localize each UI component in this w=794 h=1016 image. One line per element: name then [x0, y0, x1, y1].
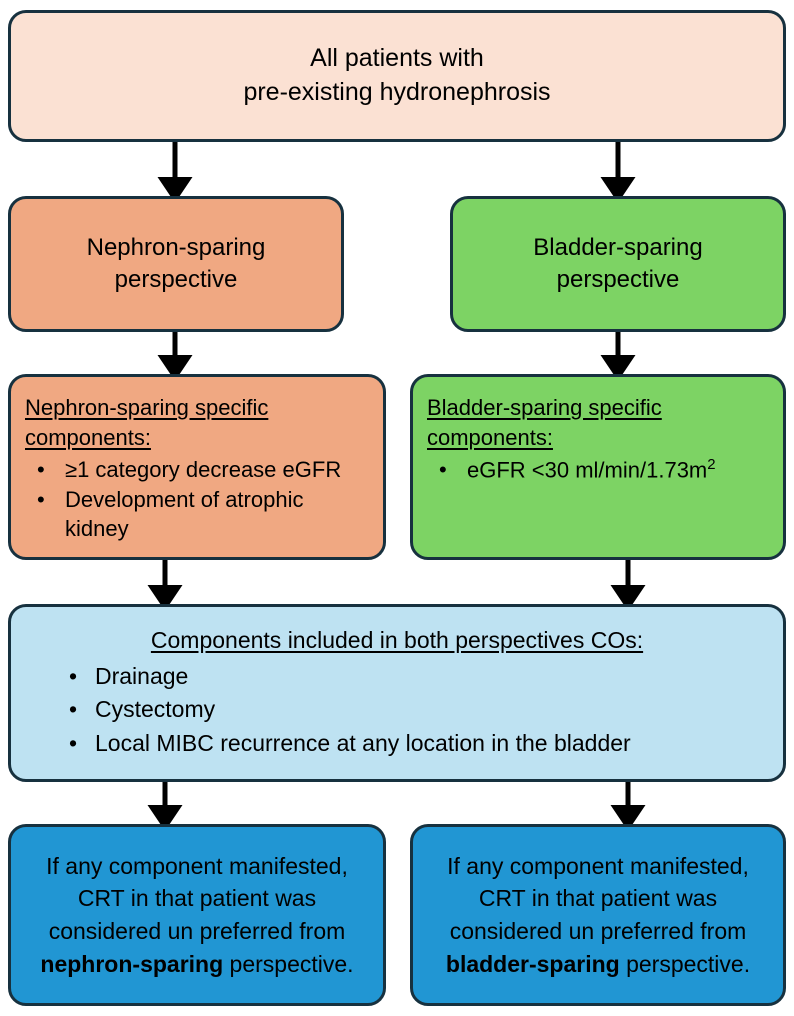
bladder-components-heading-line-2: components: — [427, 425, 553, 450]
nephron-components-heading: Nephron-sparing specific components: — [25, 393, 373, 452]
node-shared-components: Components included in both perspectives… — [8, 604, 786, 782]
shared-component-text: Local MIBC recurrence at any location in… — [95, 730, 631, 756]
nephron-component-text: Development of atrophic kidney — [65, 487, 303, 541]
all-patients-line-2: pre-existing hydronephrosis — [243, 76, 550, 110]
bullet-icon: • — [37, 485, 45, 514]
shared-components-list: • Drainage • Cystectomy • Local MIBC rec… — [25, 658, 769, 761]
nephron-components-list: • ≥1 category decrease eGFR • Developmen… — [21, 454, 373, 544]
bladder-conclusion-emphasis: bladder-sparing — [446, 951, 620, 977]
bladder-perspective-line-2: perspective — [557, 264, 680, 296]
list-item: • Drainage — [25, 661, 769, 691]
bullet-icon: • — [37, 455, 45, 484]
list-item: • ≥1 category decrease eGFR — [21, 455, 373, 484]
shared-component-text: Drainage — [95, 663, 188, 689]
nephron-conclusion-prefix: If any component manifested, CRT in that… — [46, 853, 348, 944]
bladder-components-heading-line-1: Bladder-sparing specific — [427, 395, 662, 420]
node-nephron-sparing-conclusion: If any component manifested, CRT in that… — [8, 824, 386, 1006]
shared-components-heading: Components included in both perspectives… — [25, 625, 769, 656]
shared-component-text: Cystectomy — [95, 696, 215, 722]
node-nephron-sparing-perspective: Nephron-sparing perspective — [8, 196, 344, 332]
node-bladder-sparing-perspective: Bladder-sparing perspective — [450, 196, 786, 332]
list-item: • Cystectomy — [25, 694, 769, 724]
bladder-components-list: • eGFR <30 ml/min/1.73m2 — [423, 454, 773, 485]
bullet-icon: • — [69, 661, 77, 691]
bladder-conclusion-text: If any component manifested, CRT in that… — [429, 850, 767, 981]
bladder-conclusion-prefix: If any component manifested, CRT in that… — [447, 853, 749, 944]
bullet-icon: • — [69, 728, 77, 758]
bladder-component-text: eGFR <30 ml/min/1.73m — [467, 458, 707, 483]
nephron-component-text: ≥1 category decrease eGFR — [65, 457, 341, 482]
bladder-perspective-line-1: Bladder-sparing — [533, 232, 702, 264]
node-nephron-sparing-components: Nephron-sparing specific components: • ≥… — [8, 374, 386, 560]
node-all-patients: All patients with pre-existing hydroneph… — [8, 10, 786, 142]
nephron-conclusion-suffix: perspective. — [223, 951, 353, 977]
bladder-component-superscript: 2 — [707, 456, 715, 473]
bladder-conclusion-suffix: perspective. — [620, 951, 750, 977]
list-item: • eGFR <30 ml/min/1.73m2 — [423, 455, 773, 484]
nephron-conclusion-text: If any component manifested, CRT in that… — [27, 850, 367, 981]
node-bladder-sparing-conclusion: If any component manifested, CRT in that… — [410, 824, 786, 1006]
bullet-icon: • — [69, 694, 77, 724]
nephron-perspective-line-2: perspective — [115, 264, 238, 296]
list-item: • Local MIBC recurrence at any location … — [25, 728, 769, 758]
node-bladder-sparing-components: Bladder-sparing specific components: • e… — [410, 374, 786, 560]
all-patients-line-1: All patients with — [310, 42, 484, 76]
bullet-icon: • — [439, 455, 447, 484]
list-item: • Development of atrophic kidney — [21, 485, 373, 543]
bladder-components-heading: Bladder-sparing specific components: — [427, 393, 773, 452]
nephron-conclusion-emphasis: nephron-sparing — [40, 951, 223, 977]
nephron-components-heading-line-2: components: — [25, 425, 151, 450]
nephron-perspective-line-1: Nephron-sparing — [87, 232, 266, 264]
nephron-components-heading-line-1: Nephron-sparing specific — [25, 395, 268, 420]
